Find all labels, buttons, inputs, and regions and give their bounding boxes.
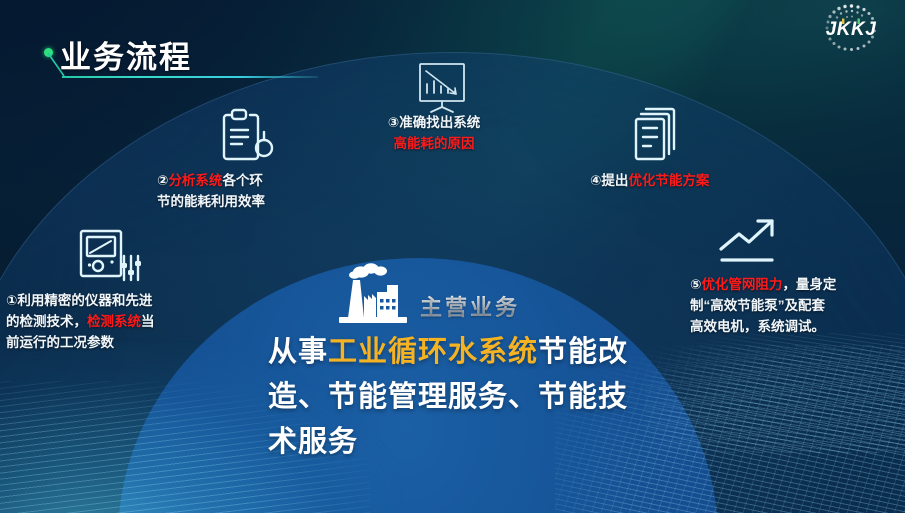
clipboard-search-icon: [218, 108, 280, 171]
page-title: 业务流程: [60, 32, 192, 77]
chart-board-icon: [414, 62, 470, 119]
flow-step-2-text: ②分析系统各个环节的能耗利用效率: [157, 170, 265, 212]
documents-icon: [632, 104, 684, 169]
bottom-right-mesh-secondary: [645, 333, 905, 453]
flow-step-4-text: ④提出优化节能方案: [590, 170, 709, 191]
title-underline: [62, 76, 318, 78]
main-business-badge: 主营业务: [420, 290, 520, 322]
flow-step-5-text: ⑤优化管网阻力，量身定制“高效节能泵”及配套高效电机，系统调试。: [690, 274, 836, 337]
main-business-text: 从事工业循环水系统节能改造、节能管理服务、节能技术服务: [268, 330, 668, 465]
slide-canvas: JKKJ 业务流程: [0, 0, 905, 513]
factory-icon: [330, 262, 414, 329]
svg-text:JKKJ: JKKJ: [826, 19, 877, 40]
main-business-header: 主营业务: [268, 262, 668, 324]
main-business-block: 主营业务 从事工业循环水系统节能改造、节能管理服务、节能技术服务: [268, 262, 668, 465]
flow-step-3-text: ③准确找出系统高能耗的原因: [352, 112, 516, 154]
jkkj-logo[interactable]: JKKJ: [811, 2, 889, 54]
trend-up-icon: [716, 216, 786, 271]
flow-step-1-text: ①利用精密的仪器和先进的检测技术，检测系统当前运行的工况参数: [6, 290, 155, 353]
multimeter-icon: [78, 228, 142, 293]
